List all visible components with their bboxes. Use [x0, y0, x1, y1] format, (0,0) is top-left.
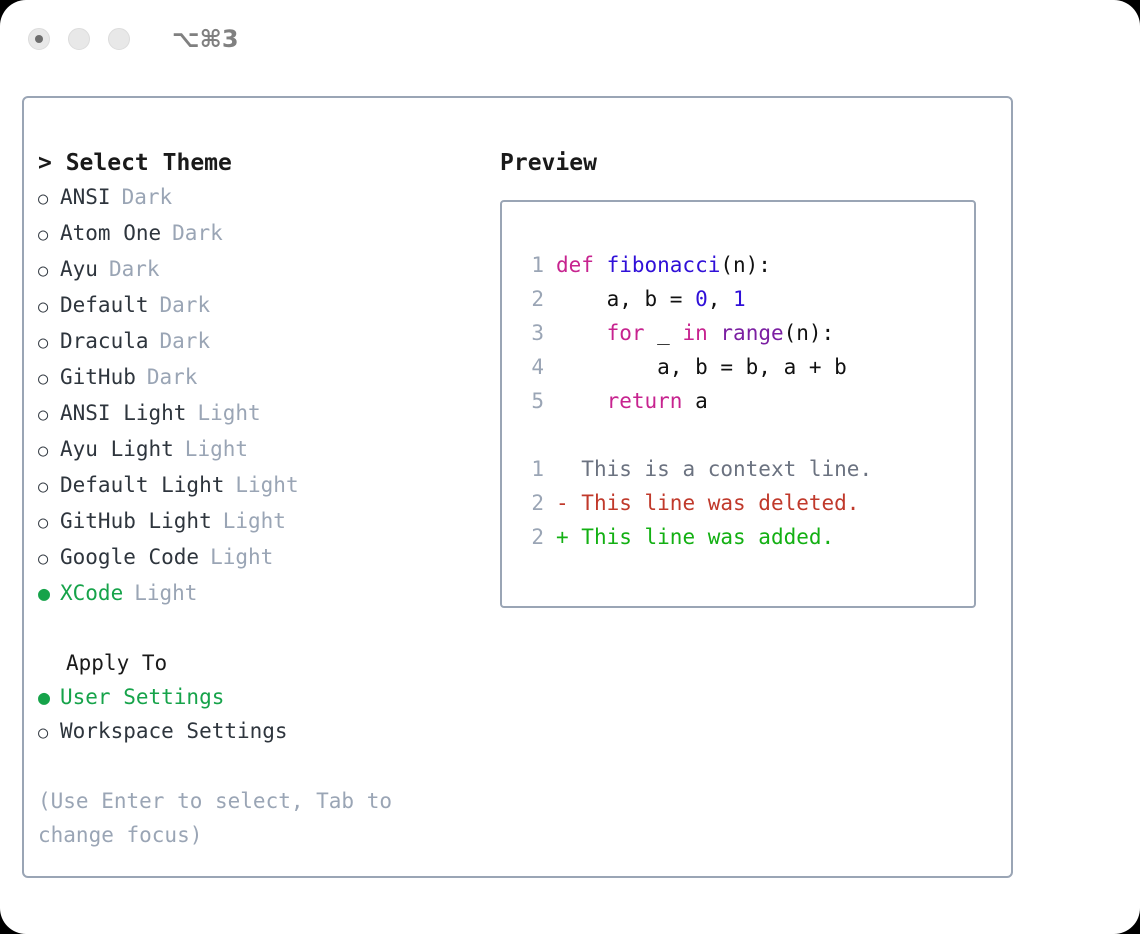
code-token: return [607, 389, 683, 413]
code-token: a [682, 389, 707, 413]
code-token [556, 389, 607, 413]
code-line-number: 4 [516, 350, 544, 384]
code-token: fibonacci [607, 253, 721, 277]
code-line-content: for _ in range(n): [556, 316, 834, 350]
diff-text: This line was added. [581, 525, 834, 549]
select-theme-heading: > Select Theme [38, 146, 478, 180]
diff-line-content: - This line was deleted. [556, 486, 859, 520]
code-line-content: a, b = 0, 1 [556, 282, 746, 316]
diff-marker [556, 457, 581, 481]
diff-line: 1 This is a context line. [516, 452, 974, 486]
code-token: def [556, 253, 607, 277]
theme-option-label: XCode [60, 576, 123, 610]
theme-option-label: Default Light [60, 468, 224, 502]
preview-code-box: 1def fibonacci(n):2 a, b = 0, 13 for _ i… [500, 200, 976, 608]
theme-option-github[interactable]: ○GitHubDark [38, 360, 478, 396]
radio-unselected-icon: ○ [38, 362, 60, 396]
apply-to-list: ●User Settings○Workspace Settings [38, 680, 478, 750]
radio-unselected-icon: ○ [38, 398, 60, 432]
theme-variant-badge: Light [134, 576, 197, 610]
main-panel: > Select Theme ○ANSIDark○Atom OneDark○Ay… [22, 96, 1013, 878]
code-line: 2 a, b = 0, 1 [516, 282, 974, 316]
apply-to-group: Apply To ●User Settings○Workspace Settin… [38, 646, 478, 750]
theme-variant-badge: Dark [147, 360, 198, 394]
keyboard-shortcut-label: ⌥⌘3 [172, 25, 239, 53]
code-line: 1def fibonacci(n): [516, 248, 974, 282]
window-dot-second[interactable] [68, 28, 90, 50]
code-line-number: 3 [516, 316, 544, 350]
apply-to-option-label: User Settings [60, 680, 224, 714]
code-token [708, 321, 721, 345]
diff-sample: 1 This is a context line.2- This line wa… [516, 452, 974, 554]
code-token: , [708, 287, 733, 311]
diff-marker: + [556, 525, 581, 549]
theme-variant-badge: Dark [160, 288, 211, 322]
theme-option-label: Ayu Light [60, 432, 174, 466]
code-sample: 1def fibonacci(n):2 a, b = 0, 13 for _ i… [516, 248, 974, 418]
theme-list: ○ANSIDark○Atom OneDark○AyuDark○DefaultDa… [38, 180, 478, 610]
theme-option-label: GitHub Light [60, 504, 212, 538]
radio-unselected-icon: ○ [38, 506, 60, 540]
radio-selected-icon: ● [38, 680, 60, 714]
theme-variant-badge: Light [223, 504, 286, 538]
radio-unselected-icon: ○ [38, 326, 60, 360]
code-line: 4 a, b = b, a + b [516, 350, 974, 384]
radio-unselected-icon: ○ [38, 290, 60, 324]
diff-line-number: 1 [516, 452, 544, 486]
diff-text: This is a context line. [581, 457, 872, 481]
code-token: (n): [720, 253, 771, 277]
theme-variant-badge: Light [197, 396, 260, 430]
diff-marker: - [556, 491, 581, 515]
window-dot-third[interactable] [108, 28, 130, 50]
theme-option-dracula[interactable]: ○DraculaDark [38, 324, 478, 360]
diff-text: This line was deleted. [581, 491, 859, 515]
code-token: for [607, 321, 645, 345]
diff-line: 2+ This line was added. [516, 520, 974, 554]
theme-option-label: Atom One [60, 216, 161, 250]
diff-line-number: 2 [516, 486, 544, 520]
active-dot-indicator [35, 35, 43, 43]
radio-unselected-icon: ○ [38, 182, 60, 216]
theme-option-label: GitHub [60, 360, 136, 394]
apply-to-option-label: Workspace Settings [60, 714, 288, 748]
theme-option-label: Dracula [60, 324, 149, 358]
code-diff-separator [516, 418, 974, 452]
theme-option-ansi-light[interactable]: ○ANSI LightLight [38, 396, 478, 432]
theme-option-ansi[interactable]: ○ANSIDark [38, 180, 478, 216]
radio-unselected-icon: ○ [38, 218, 60, 252]
theme-option-google-code[interactable]: ○Google CodeLight [38, 540, 478, 576]
theme-option-atom-one[interactable]: ○Atom OneDark [38, 216, 478, 252]
radio-unselected-icon: ○ [38, 470, 60, 504]
code-token: _ [645, 321, 683, 345]
radio-unselected-icon: ○ [38, 254, 60, 288]
theme-variant-badge: Dark [172, 216, 223, 250]
theme-option-label: Google Code [60, 540, 199, 574]
code-line-content: return a [556, 384, 708, 418]
diff-line-content: + This line was added. [556, 520, 834, 554]
code-line-content: a, b = b, a + b [556, 350, 847, 384]
code-token: (n): [784, 321, 835, 345]
theme-option-ayu[interactable]: ○AyuDark [38, 252, 478, 288]
theme-variant-badge: Dark [122, 180, 173, 214]
preview-column: Preview 1def fibonacci(n):2 a, b = 0, 13… [500, 146, 1000, 608]
diff-line-content: This is a context line. [556, 452, 872, 486]
theme-option-default[interactable]: ○DefaultDark [38, 288, 478, 324]
code-line: 3 for _ in range(n): [516, 316, 974, 350]
theme-option-label: ANSI [60, 180, 111, 214]
diff-line: 2- This line was deleted. [516, 486, 974, 520]
app-window: ⌥⌘3 > Select Theme ○ANSIDark○Atom OneDar… [0, 0, 1140, 934]
code-line-number: 1 [516, 248, 544, 282]
code-token: 0 [695, 287, 708, 311]
window-titlebar: ⌥⌘3 [0, 0, 1140, 78]
theme-option-default-light[interactable]: ○Default LightLight [38, 468, 478, 504]
theme-variant-badge: Dark [160, 324, 211, 358]
code-token: a, b = [556, 287, 695, 311]
window-controls [28, 28, 130, 50]
apply-to-option-user-settings[interactable]: ●User Settings [38, 680, 478, 714]
code-line-number: 5 [516, 384, 544, 418]
radio-unselected-icon: ○ [38, 716, 60, 750]
radio-unselected-icon: ○ [38, 542, 60, 576]
radio-unselected-icon: ○ [38, 434, 60, 468]
window-dot-active[interactable] [28, 28, 50, 50]
apply-to-heading: Apply To [38, 646, 478, 680]
theme-variant-badge: Dark [109, 252, 160, 286]
code-line-number: 2 [516, 282, 544, 316]
theme-option-xcode[interactable]: ●XCodeLight [38, 576, 478, 610]
theme-variant-badge: Light [210, 540, 273, 574]
code-line: 5 return a [516, 384, 974, 418]
theme-option-github-light[interactable]: ○GitHub LightLight [38, 504, 478, 540]
theme-option-label: Default [60, 288, 149, 322]
preview-heading: Preview [500, 146, 1000, 180]
diff-line-number: 2 [516, 520, 544, 554]
keyboard-hint-text: (Use Enter to select, Tab to change focu… [38, 784, 438, 852]
theme-variant-badge: Light [235, 468, 298, 502]
radio-selected-icon: ● [38, 576, 60, 610]
code-token [556, 321, 607, 345]
code-line-content: def fibonacci(n): [556, 248, 771, 282]
apply-to-option-workspace-settings[interactable]: ○Workspace Settings [38, 714, 478, 750]
theme-option-label: ANSI Light [60, 396, 186, 430]
code-token: range [720, 321, 783, 345]
theme-option-ayu-light[interactable]: ○Ayu LightLight [38, 432, 478, 468]
theme-option-label: Ayu [60, 252, 98, 286]
code-token: a, b = b, a + b [556, 355, 847, 379]
code-token: 1 [733, 287, 746, 311]
theme-selector-column: > Select Theme ○ANSIDark○Atom OneDark○Ay… [38, 146, 478, 852]
theme-variant-badge: Light [185, 432, 248, 466]
code-token: in [682, 321, 707, 345]
